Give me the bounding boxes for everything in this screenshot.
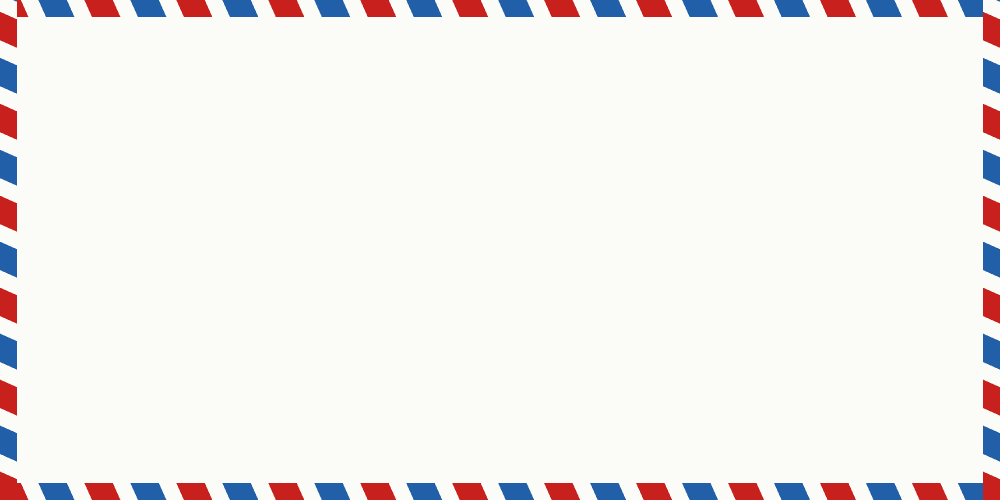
airmail-border-top	[0, 0, 1000, 17]
envelope-paper	[17, 17, 983, 483]
airmail-border-left	[0, 0, 17, 500]
airmail-border-bottom	[0, 483, 1000, 500]
airmail-border-right	[983, 0, 1000, 500]
postcode-diagram-envelope: 0 2 4 5 0 9 内蒙古自治区 一级：省、自治区、直辖市 赤峰市 二级：邮…	[0, 0, 1000, 500]
